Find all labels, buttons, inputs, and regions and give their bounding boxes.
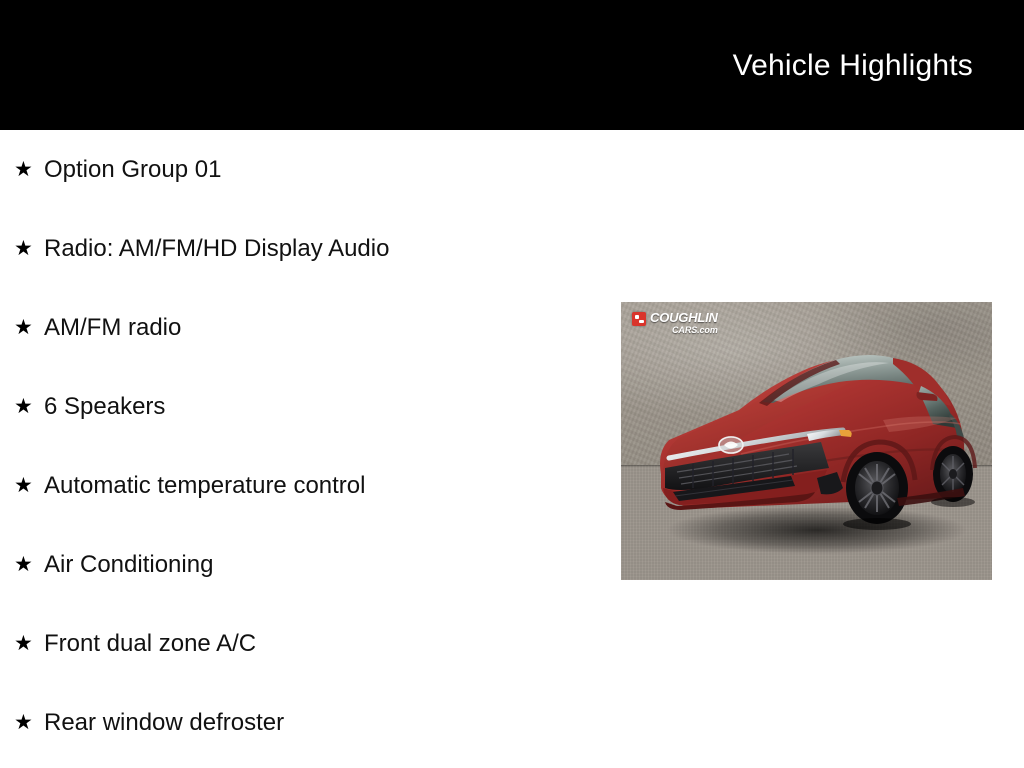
list-item: ★ Rear window defroster	[0, 683, 600, 762]
vehicle-highlights-page: Vehicle Highlights ★ Option Group 01 ★ R…	[0, 0, 1024, 768]
star-icon: ★	[14, 633, 44, 654]
highlight-label: Option Group 01	[44, 156, 600, 184]
vehicle-highlights-list: ★ Option Group 01 ★ Radio: AM/FM/HD Disp…	[0, 130, 600, 762]
highlight-label: Air Conditioning	[44, 551, 600, 579]
list-item: ★ Air Conditioning	[0, 525, 600, 604]
list-item: ★ Radio: AM/FM/HD Display Audio	[0, 209, 600, 288]
star-icon: ★	[14, 712, 44, 733]
vehicle-illustration	[621, 302, 992, 580]
highlight-label: Automatic temperature control	[44, 472, 600, 500]
star-icon: ★	[14, 396, 44, 417]
star-icon: ★	[14, 317, 44, 338]
star-icon: ★	[14, 159, 44, 180]
highlight-label: AM/FM radio	[44, 314, 600, 342]
page-title: Vehicle Highlights	[733, 48, 973, 84]
vehicle-photo: COUGHLIN CARS.com	[621, 302, 992, 580]
highlight-label: Front dual zone A/C	[44, 630, 600, 658]
list-item: ★ Automatic temperature control	[0, 446, 600, 525]
highlight-label: Rear window defroster	[44, 709, 600, 737]
star-icon: ★	[14, 554, 44, 575]
star-icon: ★	[14, 475, 44, 496]
list-item: ★ 6 Speakers	[0, 367, 600, 446]
highlight-label: Radio: AM/FM/HD Display Audio	[44, 235, 600, 263]
list-item: ★ Front dual zone A/C	[0, 604, 600, 683]
highlight-label: 6 Speakers	[44, 393, 600, 421]
header-bar: Vehicle Highlights	[0, 0, 1024, 130]
list-item: ★ Option Group 01	[0, 130, 600, 209]
star-icon: ★	[14, 238, 44, 259]
list-item: ★ AM/FM radio	[0, 288, 600, 367]
